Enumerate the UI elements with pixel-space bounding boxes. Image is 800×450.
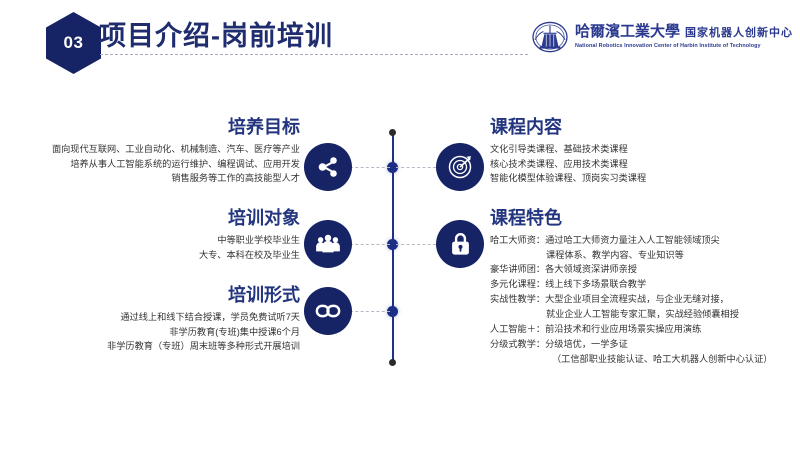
right-block-0-line-2: 智能化模型体验课程、顶岗实习类课程: [490, 171, 800, 186]
lock-icon: [449, 231, 472, 257]
right-block-1-line-7: 分级式教学：分级培优，一学多证: [490, 337, 800, 352]
left-block-2-title: 培训形式: [10, 285, 300, 307]
left-block-1-title: 培训对象: [10, 208, 300, 230]
connector-left-3: [350, 311, 390, 312]
logo-chinese-row: 哈爾濱工業大學 国家机器人创新中心: [575, 20, 793, 41]
logo-text: 哈爾濱工業大學 国家机器人创新中心 National Robotics Inno…: [575, 20, 793, 49]
target-dart-icon-circle[interactable]: [436, 143, 484, 191]
logo-university-name: 哈爾濱工業大學: [575, 20, 680, 41]
right-block-0-title: 课程内容: [490, 117, 800, 139]
organization-logo: 哈爾濱工業大學 国家机器人创新中心 National Robotics Inno…: [531, 20, 791, 62]
university-crest-icon: [531, 21, 569, 55]
logo-english-name: National Robotics Innovation Center of H…: [575, 43, 793, 49]
lock-icon-circle[interactable]: [436, 220, 484, 268]
header-divider: [100, 54, 528, 55]
right-block-0: 课程内容 文化引导类课程、基础技术类课程 核心技术类课程、应用技术类课程 智能化…: [490, 117, 800, 186]
section-number: 03: [64, 33, 84, 53]
right-block-1-line-0: 哈工大师资：通过哈工大师资力量注入人工智能领域顶尖: [490, 233, 800, 248]
target-dart-icon: [447, 154, 473, 180]
left-block-0-line-0: 面向现代互联网、工业自动化、机械制造、汽车、医疗等产业: [10, 142, 300, 157]
connector-left-1: [350, 167, 390, 168]
share-nodes-icon-circle[interactable]: [304, 143, 352, 191]
left-block-0: 培养目标 面向现代互联网、工业自动化、机械制造、汽车、医疗等产业 培养从事人工智…: [10, 117, 300, 186]
section-number-badge: 03: [46, 12, 101, 74]
left-block-2: 培训形式 通过线上和线下结合授课，学员免费试听7天 非学历教育(专班)集中授课6…: [10, 285, 300, 354]
chain-link-icon-circle[interactable]: [304, 287, 352, 335]
left-block-0-line-2: 销售服务等工作的高技能型人才: [10, 171, 300, 186]
right-block-0-line-0: 文化引导类课程、基础技术类课程: [490, 142, 800, 157]
chain-link-icon: [315, 300, 341, 322]
right-block-1-line-5: 就业企业人工智能专家汇聚，实战经验倾囊相授: [490, 307, 800, 322]
right-block-1-line-8: （工信部职业技能认证、哈工大机器人创新中心认证）: [490, 352, 800, 367]
page-title: 项目介绍-岗前培训: [99, 14, 333, 53]
right-block-1-line-4: 实战性教学：大型企业项目全流程实战，与企业无缝对接，: [490, 292, 800, 307]
left-block-1-line-0: 中等职业学校毕业生: [10, 233, 300, 248]
share-nodes-icon: [316, 155, 340, 179]
connector-right-2: [396, 244, 436, 245]
people-group-icon: [315, 232, 341, 256]
timeline-cap-bottom: [389, 359, 396, 366]
left-block-1: 培训对象 中等职业学校毕业生 大专、本科在校及毕业生: [10, 208, 300, 262]
left-block-0-line-1: 培养从事人工智能系统的运行维护、编程调试、应用开发: [10, 157, 300, 172]
timeline-cap-top: [389, 129, 396, 136]
left-block-2-line-1: 非学历教育(专班)集中授课6个月: [10, 325, 300, 340]
right-block-1-line-1: 课程体系、教学内容、专业知识等: [490, 248, 800, 263]
right-block-1-line-3: 多元化课程：线上线下多场景联合教学: [490, 277, 800, 292]
connector-left-2: [350, 244, 390, 245]
right-block-1-line-2: 豪华讲师团：各大领域资深讲师亲授: [490, 262, 800, 277]
left-block-0-title: 培养目标: [10, 117, 300, 139]
right-block-0-line-1: 核心技术类课程、应用技术类课程: [490, 157, 800, 172]
people-group-icon-circle[interactable]: [304, 220, 352, 268]
right-block-1-line-6: 人工智能＋：前沿技术和行业应用场景实操应用演练: [490, 322, 800, 337]
left-block-1-line-1: 大专、本科在校及毕业生: [10, 248, 300, 263]
right-block-1: 课程特色 哈工大师资：通过哈工大师资力量注入人工智能领域顶尖 课程体系、教学内容…: [490, 208, 800, 367]
logo-center-name: 国家机器人创新中心: [685, 24, 793, 40]
left-block-2-line-0: 通过线上和线下结合授课，学员免费试听7天: [10, 310, 300, 325]
left-block-2-line-2: 非学历教育（专班）周末班等多种形式开展培训: [10, 339, 300, 354]
connector-right-1: [396, 167, 436, 168]
right-block-1-title: 课程特色: [490, 208, 800, 230]
